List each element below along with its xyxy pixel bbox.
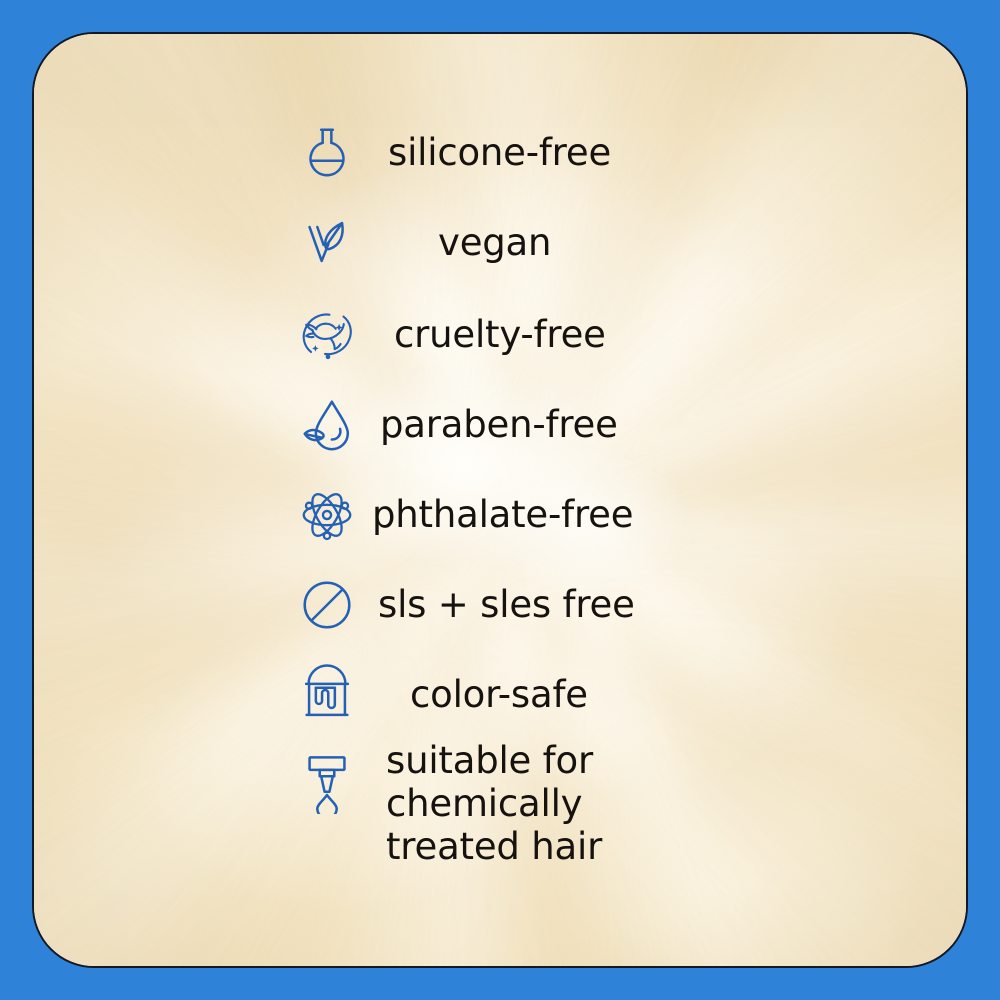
product-claims-card: silicone-free vegan [32, 32, 968, 968]
claims-list: silicone-free vegan [34, 34, 968, 968]
claim-label: sls + sles free [378, 584, 635, 627]
claim-item-vegan: vegan [34, 198, 968, 288]
claim-item-chemically-treated-hair: suitable for chemically treated hair [34, 740, 968, 890]
leaping-bunny-icon [296, 304, 358, 366]
claim-item-sls-sles-free: sls + sles free [34, 560, 968, 650]
claim-label: vegan [438, 222, 551, 265]
claim-item-phthalate-free: phthalate-free [34, 470, 968, 560]
claim-label: cruelty-free [394, 314, 606, 357]
claim-label: paraben-free [380, 404, 618, 447]
flask-icon [296, 122, 358, 184]
image-root: silicone-free vegan [0, 0, 1000, 1000]
claim-item-color-safe: color-safe [34, 650, 968, 740]
claim-label: phthalate-free [372, 494, 633, 537]
dropper-icon [296, 752, 358, 814]
claim-item-cruelty-free: cruelty-free [34, 290, 968, 380]
claim-label: suitable for chemically treated hair [386, 740, 602, 869]
claim-label: color-safe [410, 674, 588, 717]
claim-label: silicone-free [388, 132, 611, 175]
paint-bucket-icon [296, 664, 358, 726]
droplet-leaf-icon [296, 394, 358, 456]
prohibition-icon [296, 574, 358, 636]
claim-item-silicone-free: silicone-free [34, 108, 968, 198]
vegan-leaf-icon [296, 212, 358, 274]
atom-icon [296, 484, 358, 546]
claim-item-paraben-free: paraben-free [34, 380, 968, 470]
